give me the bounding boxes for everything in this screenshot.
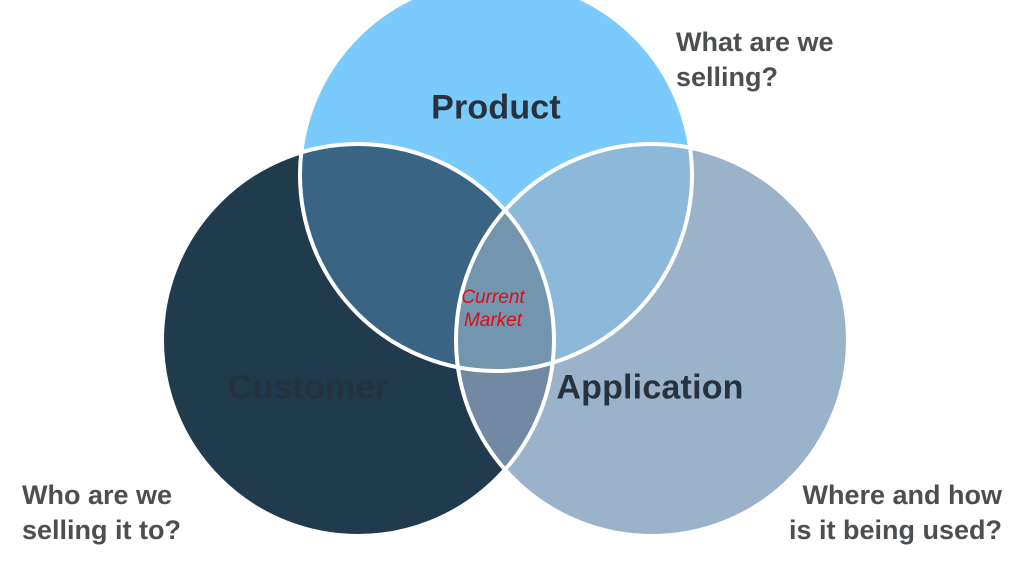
caption-application-question: Where and how is it being used?: [789, 478, 1002, 547]
caption-product-question: What are we selling?: [676, 25, 834, 94]
venn-diagram: Product Customer Application Current Mar…: [0, 0, 1024, 570]
caption-customer-question: Who are we selling it to?: [22, 478, 181, 547]
